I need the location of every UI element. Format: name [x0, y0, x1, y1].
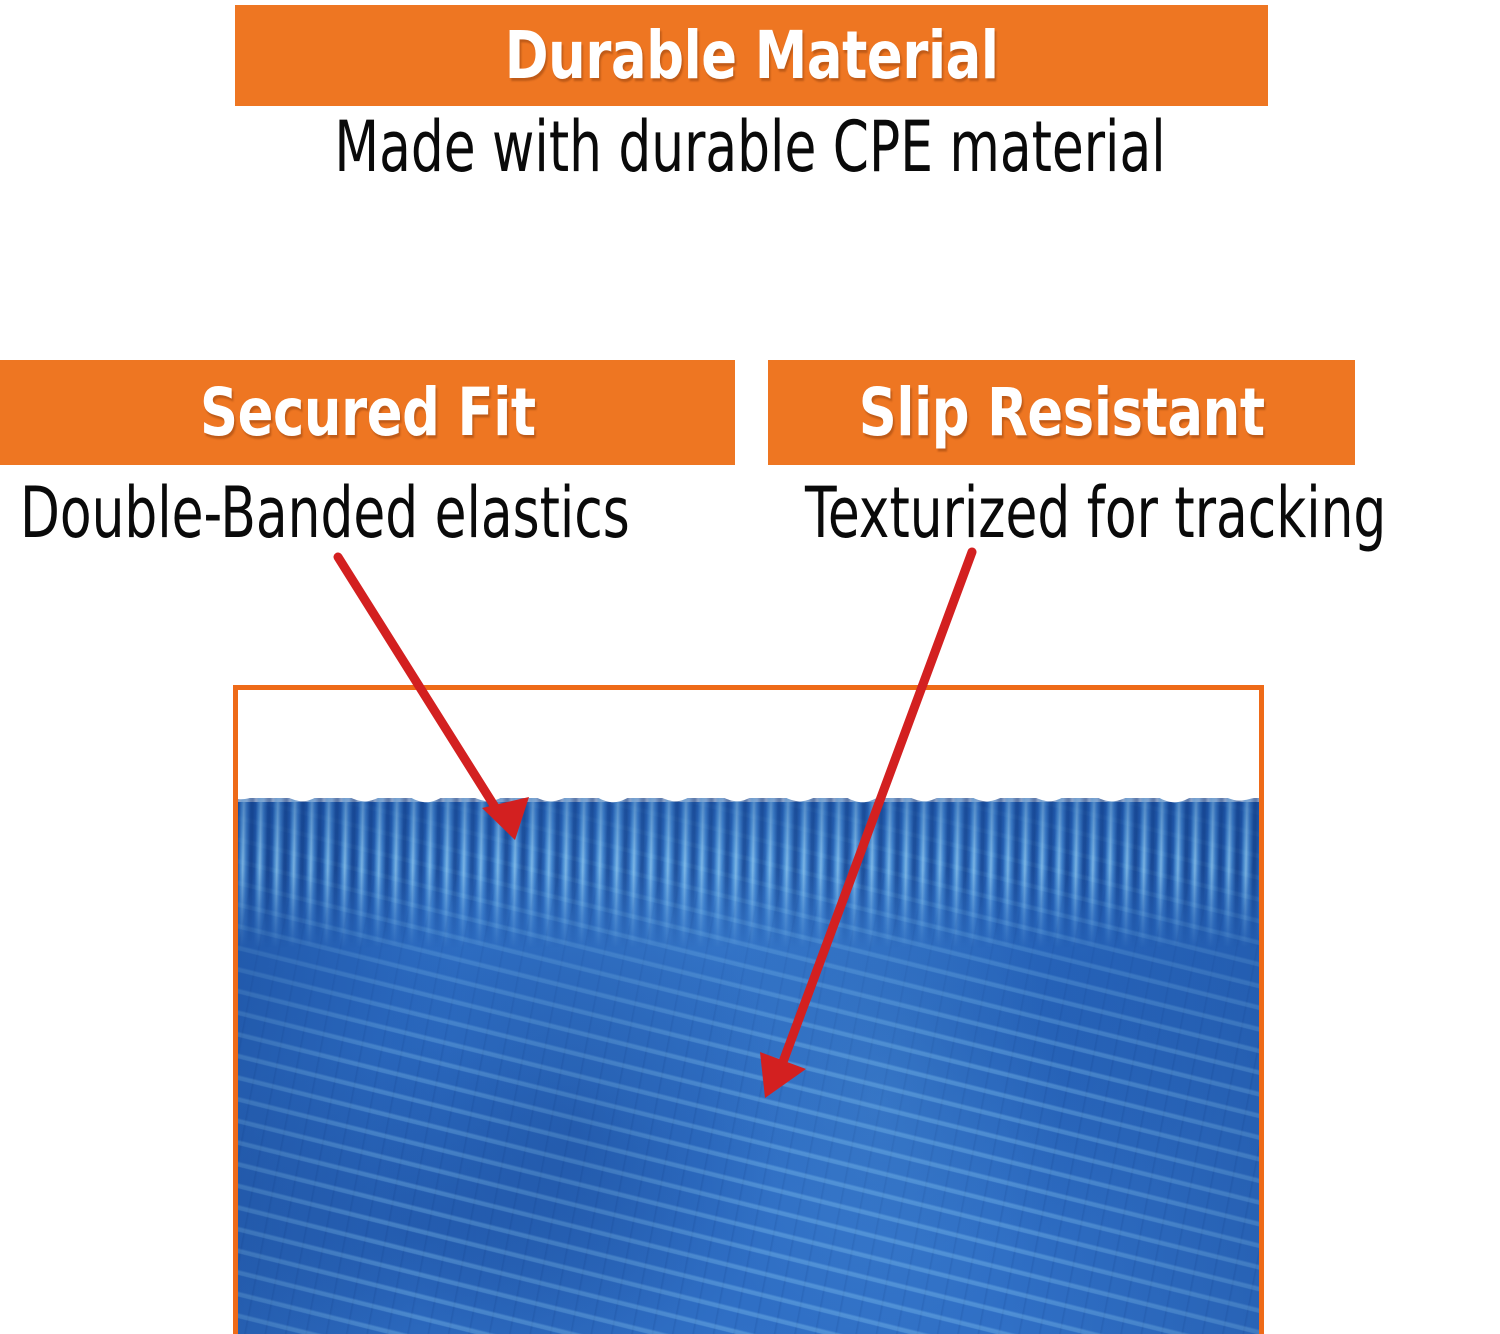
feature-banner-title: Slip Resistant	[859, 374, 1265, 451]
product-photo-frame	[233, 685, 1264, 1334]
feature-caption-durable-material: Made with durable CPE material	[195, 112, 1305, 182]
product-photo	[238, 690, 1259, 1334]
feature-banner-title: Durable Material	[505, 17, 999, 94]
feature-banner-slip-resistant: Slip Resistant	[768, 360, 1355, 465]
product-feature-infographic: Durable Material Made with durable CPE m…	[0, 0, 1500, 1334]
feature-banner-durable-material: Durable Material	[235, 5, 1268, 106]
fabric-ruffled-top-edge	[238, 690, 1259, 840]
feature-banner-secured-fit: Secured Fit	[0, 360, 735, 465]
feature-caption-secured-fit: Double-Banded elastics	[20, 478, 630, 548]
feature-caption-slip-resistant: Texturized for tracking	[805, 478, 1386, 548]
feature-banner-title: Secured Fit	[200, 374, 536, 451]
